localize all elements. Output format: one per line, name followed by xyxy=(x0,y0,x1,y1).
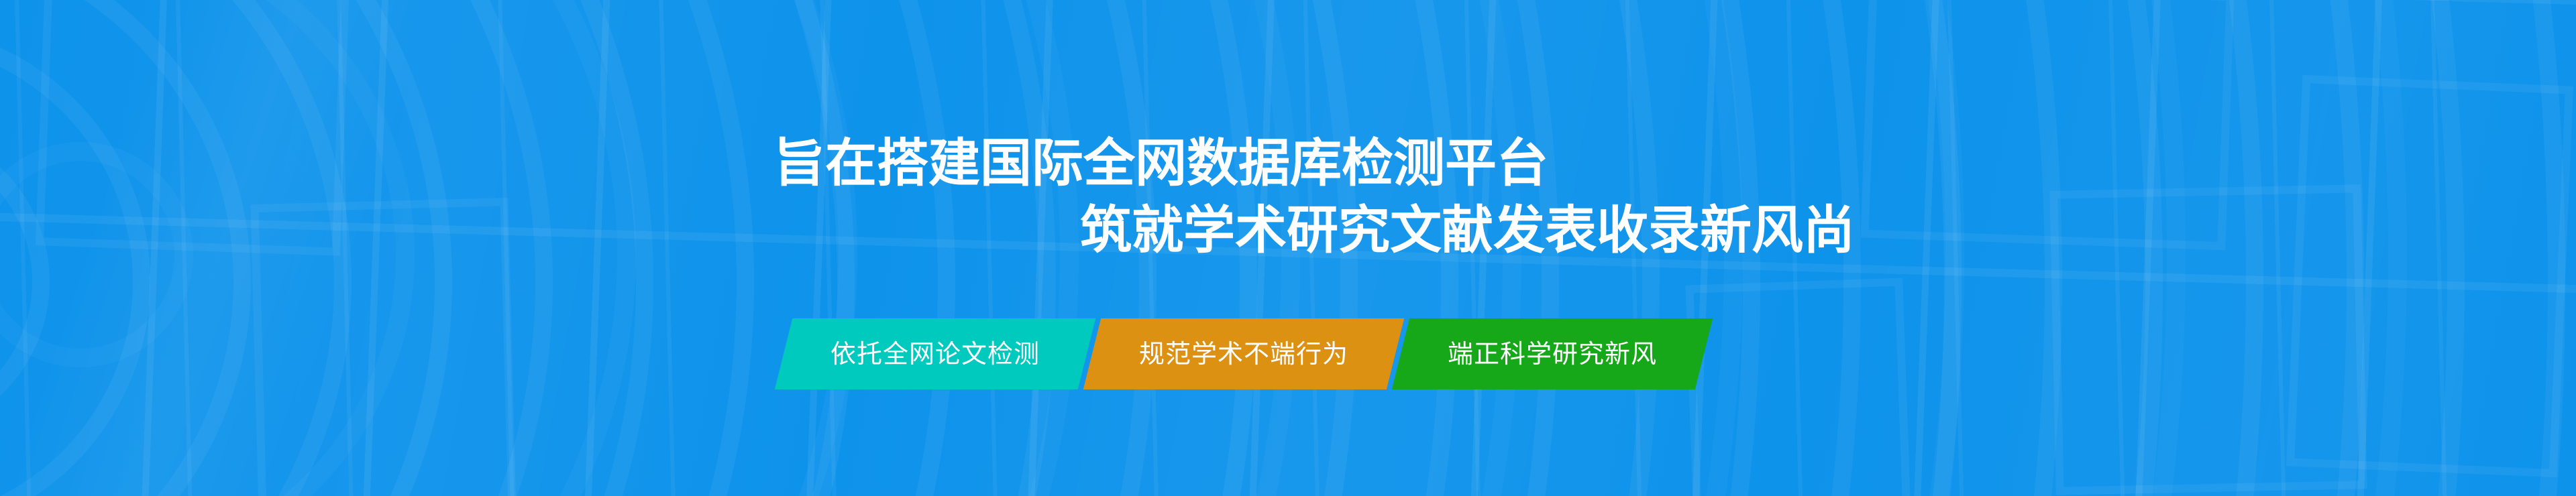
feature-tag-label: 依托全网论文检测 xyxy=(830,341,1040,367)
blueprint-block xyxy=(2286,75,2573,477)
feature-tag-label: 端正科学研究新风 xyxy=(1448,341,1657,367)
feature-tag-strip: 依托全网论文检测 规范学术不端行为 端正科学研究新风 xyxy=(784,318,1704,389)
blueprint-block xyxy=(250,198,517,496)
blueprint-block xyxy=(2049,184,2367,495)
blueprint-block xyxy=(1860,0,2234,250)
headline-line-2: 筑就学术研究文献发表收录新风尚 xyxy=(1080,205,1855,257)
promo-banner: 旨在搭建国际全网数据库检测平台 筑就学术研究文献发表收录新风尚 依托全网论文检测… xyxy=(0,0,2576,496)
headline-line-1: 旨在搭建国际全网数据库检测平台 xyxy=(773,138,1548,190)
blueprint-block xyxy=(36,0,350,256)
feature-tag-misconduct-regulation[interactable]: 规范学术不端行为 xyxy=(1083,318,1404,389)
feature-tag-paper-detection[interactable]: 依托全网论文检测 xyxy=(775,318,1095,389)
blueprint-block xyxy=(1685,277,1913,496)
feature-tag-label: 规范学术不端行为 xyxy=(1139,341,1348,367)
feature-tag-research-ethos[interactable]: 端正科学研究新风 xyxy=(1392,318,1713,389)
